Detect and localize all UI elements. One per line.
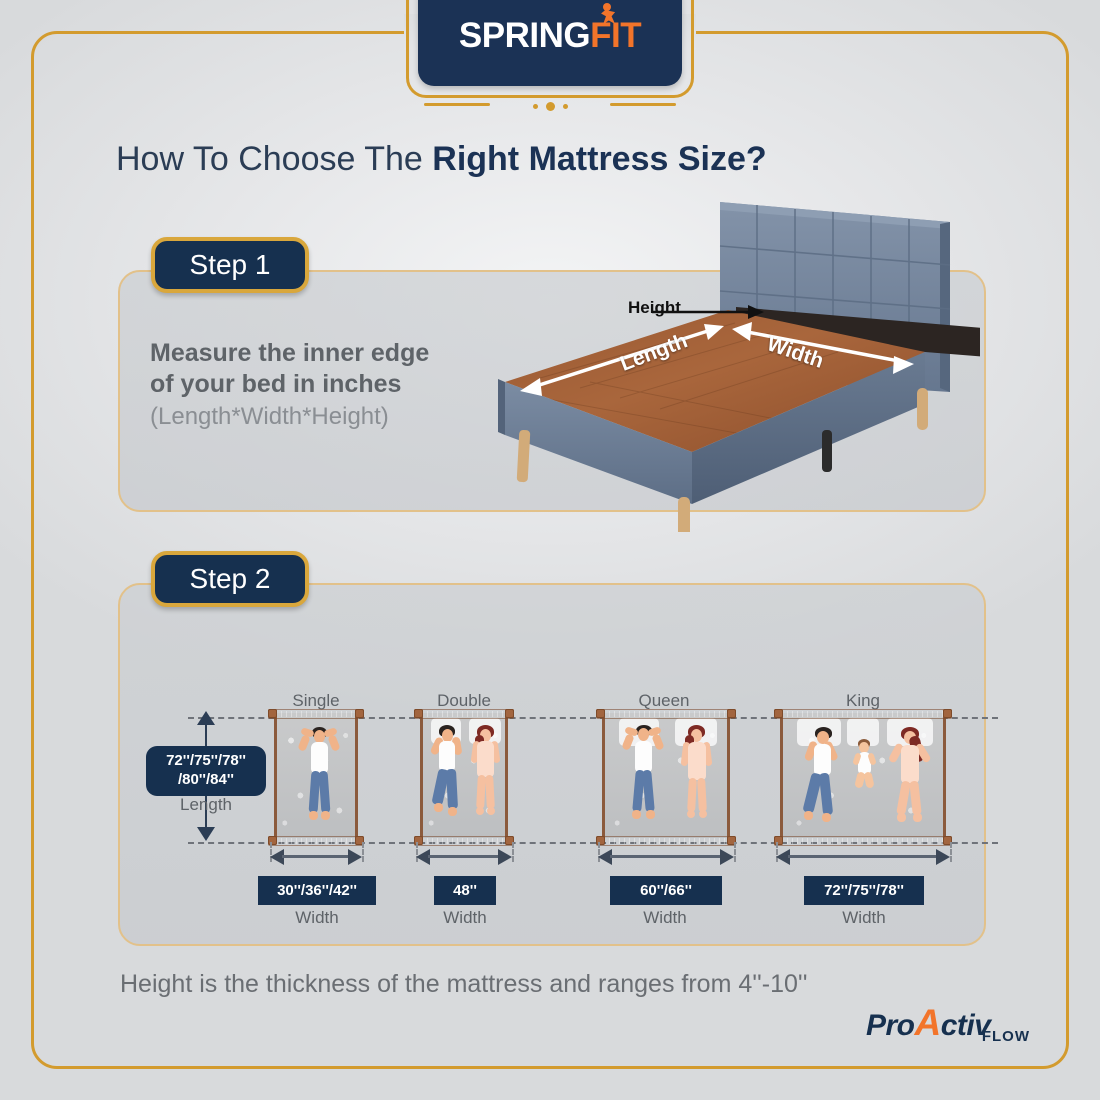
- width-badge-king: 72''/75''/78'': [804, 876, 924, 905]
- bed-height-label: Height: [628, 298, 681, 318]
- person-figure: [887, 727, 933, 827]
- person-figure: [299, 727, 339, 827]
- logo-wordmark: SPRINGFIT: [459, 16, 641, 56]
- running-figure-icon: [601, 3, 616, 25]
- proactiv-pro: Pro: [866, 1009, 915, 1042]
- mattress-rail-bottom-king: [774, 836, 952, 846]
- mattress-rail-top-king: [774, 709, 952, 719]
- logo-dash-left: [424, 103, 490, 106]
- mattress-size-diagram: 72''/75''/78'' /80''/84'' Length Single: [118, 583, 986, 946]
- length-value-line-1: 72''/75''/78'': [150, 752, 262, 771]
- person-figure: [623, 725, 663, 825]
- page-title-plain: How To Choose The: [116, 140, 432, 178]
- page-title-bold: Right Mattress Size?: [432, 140, 766, 178]
- step-1-line-1: Measure the inner edge: [150, 338, 480, 369]
- mattress-rail-bottom-single: [268, 836, 364, 846]
- person-figure: [801, 727, 843, 827]
- proactiv-a: A: [915, 1002, 941, 1043]
- logo-dot-decoration: [498, 99, 602, 113]
- width-badge-double: 48'': [434, 876, 496, 905]
- page-title: How To Choose The Right Mattress Size?: [116, 140, 767, 179]
- infographic-page: SPRINGFIT How To Choose The Right Mattre…: [0, 0, 1100, 1100]
- width-guide-queen-right: [734, 842, 736, 862]
- bed-illustration: [480, 192, 980, 532]
- width-badge-queen: 60''/66'': [610, 876, 722, 905]
- width-caption-double: Width: [406, 908, 524, 928]
- mattress-rail-top-double: [414, 709, 514, 719]
- length-arrow-up: [197, 711, 215, 725]
- width-caption-queen: Width: [606, 908, 724, 928]
- width-badge-single: 30''/36''/42'': [258, 876, 376, 905]
- width-guide-king-right: [950, 842, 952, 862]
- baby-figure: [853, 739, 877, 799]
- size-title-queen: Queen: [594, 691, 734, 711]
- step-1-line-3: (Length*Width*Height): [150, 401, 480, 432]
- length-arrow-down: [197, 827, 215, 841]
- length-caption: Length: [146, 795, 266, 815]
- logo-dash-right: [610, 103, 676, 106]
- proactiv-wordmark: ProActiv: [866, 1002, 990, 1044]
- step-1-badge: Step 1: [151, 237, 309, 293]
- mattress-rail-top-single: [268, 709, 364, 719]
- size-title-single: Single: [246, 691, 386, 711]
- mattress-rail-bottom-double: [414, 836, 514, 846]
- person-figure: [679, 725, 715, 825]
- brand-logo: SPRINGFIT: [406, 0, 694, 114]
- width-caption-king: Width: [804, 908, 924, 928]
- size-title-king: King: [793, 691, 933, 711]
- mattress-double: [420, 713, 508, 838]
- width-guide-double-right: [512, 842, 514, 862]
- person-figure: [429, 725, 465, 825]
- mattress-single: [274, 713, 358, 838]
- length-value-badge: 72''/75''/78'' /80''/84'': [146, 746, 266, 796]
- logo-tab: SPRINGFIT: [418, 0, 682, 86]
- logo-main-text: SPRING: [459, 16, 590, 55]
- mattress-rail-top-queen: [596, 709, 736, 719]
- proactiv-flow-text: FLOW: [982, 1028, 1030, 1045]
- width-caption-single: Width: [258, 908, 376, 928]
- step-1-badge-label: Step 1: [190, 249, 271, 281]
- mattress-queen: [602, 713, 730, 838]
- mattress-rail-bottom-queen: [596, 836, 736, 846]
- step-1-instructions: Measure the inner edge of your bed in in…: [150, 338, 480, 432]
- width-guide-single-right: [362, 842, 364, 862]
- proactiv-flow-logo: ProActiv FLOW: [866, 1002, 1036, 1046]
- step-1-line-2: of your bed in inches: [150, 369, 480, 400]
- length-value-line-2: /80''/84'': [150, 771, 262, 790]
- person-figure: [469, 725, 503, 825]
- size-title-double: Double: [394, 691, 534, 711]
- mattress-king: [780, 713, 946, 838]
- footnote-text: Height is the thickness of the mattress …: [120, 970, 807, 999]
